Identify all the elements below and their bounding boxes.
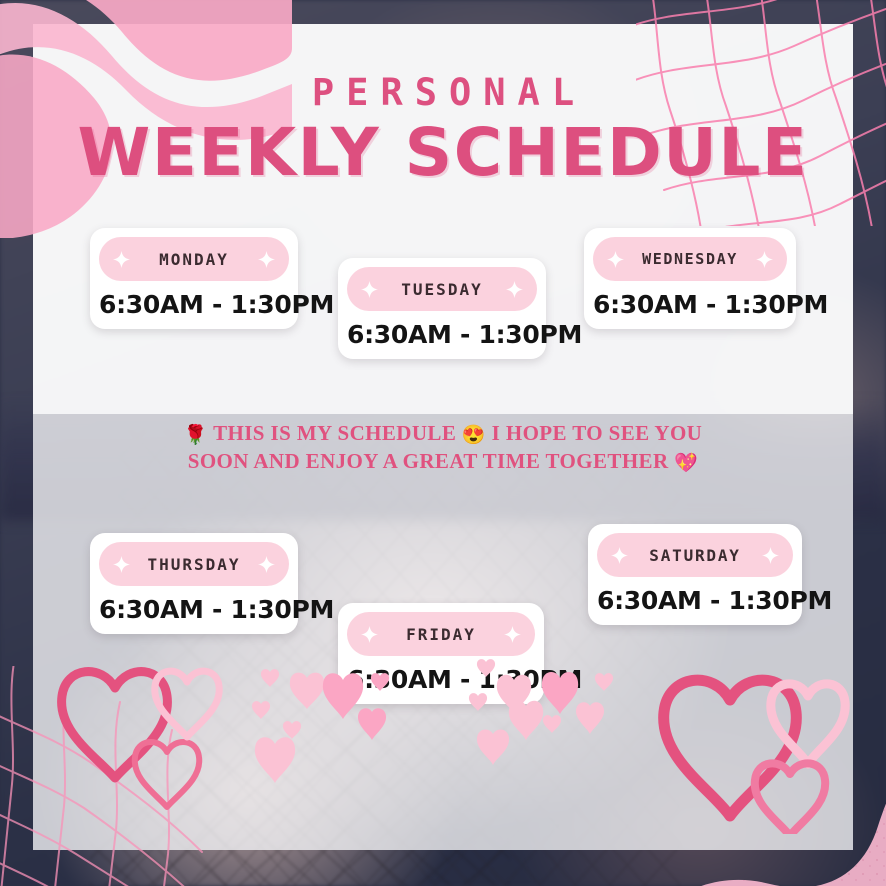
heart-solid-icon [255,737,295,783]
sparkle-icon [506,281,523,298]
day-pill-tuesday: TUESDAY [347,267,537,311]
day-pill-saturday: SATURDAY [597,533,793,577]
heart-solid-icon [290,673,324,709]
rose-icon: 🌹 [184,425,208,446]
heart-solid-icon [542,672,578,714]
day-time: 6:30AM - 1:30PM [597,586,793,615]
day-pill-wednesday: WEDNESDAY [593,237,787,281]
message-line1-a: THIS IS MY SCHEDULE [213,421,456,445]
sparkle-icon [258,251,275,268]
heart-cluster-bottom-left [20,636,400,826]
day-pill-thursday: THURSDAY [99,542,289,586]
day-card-thursday[interactable]: THURSDAY 6:30AM - 1:30PM [90,533,298,634]
heart-solid-icon [576,702,604,734]
day-time: 6:30AM - 1:30PM [99,595,289,624]
day-label: THURSDAY [130,555,258,574]
heart-solid-icon [323,673,363,719]
day-label: TUESDAY [378,280,506,299]
sparkle-icon [607,251,624,268]
heart-eyes-icon: 😍 [462,425,486,446]
schedule-message: 🌹 THIS IS MY SCHEDULE 😍 I HOPE TO SEE YO… [170,420,716,476]
heart-outline-icon [664,680,797,816]
heart-solid-icon [509,701,543,740]
poster-canvas: PERSONAL WEEKLY SCHEDULE MONDAY 6:30AM -… [0,0,886,886]
heart-solid-icon [358,708,386,740]
day-card-wednesday[interactable]: WEDNESDAY 6:30AM - 1:30PM [584,228,796,329]
sparkle-icon [611,547,628,564]
header-block: PERSONAL WEEKLY SCHEDULE [0,74,886,186]
heart-solid-icon [283,721,301,739]
heart-solid-icon [261,669,279,687]
message-line2: SOON AND ENJOY A GREAT TIME TOGETHER [188,449,669,473]
day-card-tuesday[interactable]: TUESDAY 6:30AM - 1:30PM [338,258,546,359]
sparkle-icon [113,251,130,268]
day-label: WEDNESDAY [624,250,756,268]
heart-solid-icon [371,673,389,691]
day-time: 6:30AM - 1:30PM [347,320,537,349]
heart-cluster-bottom-right [468,634,868,834]
heart-solid-icon [477,659,495,677]
sparkling-heart-icon: 💖 [674,453,698,474]
heart-solid-icon [595,673,613,691]
day-card-monday[interactable]: MONDAY 6:30AM - 1:30PM [90,228,298,329]
heart-solid-icon [252,701,270,719]
day-card-saturday[interactable]: SATURDAY 6:30AM - 1:30PM [588,524,802,625]
day-time: 6:30AM - 1:30PM [99,290,289,319]
page-kicker: PERSONAL [0,74,886,111]
day-label: MONDAY [130,250,258,269]
page-title: WEEKLY SCHEDULE [0,120,886,186]
day-time: 6:30AM - 1:30PM [593,290,787,319]
day-label: SATURDAY [628,546,762,565]
sparkle-icon [113,556,130,573]
day-pill-monday: MONDAY [99,237,289,281]
heart-solid-icon [469,693,487,711]
sparkle-icon [756,251,773,268]
sparkle-icon [762,547,779,564]
sparkle-icon [258,556,275,573]
heart-solid-icon [543,715,561,733]
message-line1-b: I HOPE TO SEE YOU [492,421,703,445]
heart-solid-icon [477,729,509,765]
sparkle-icon [361,281,378,298]
